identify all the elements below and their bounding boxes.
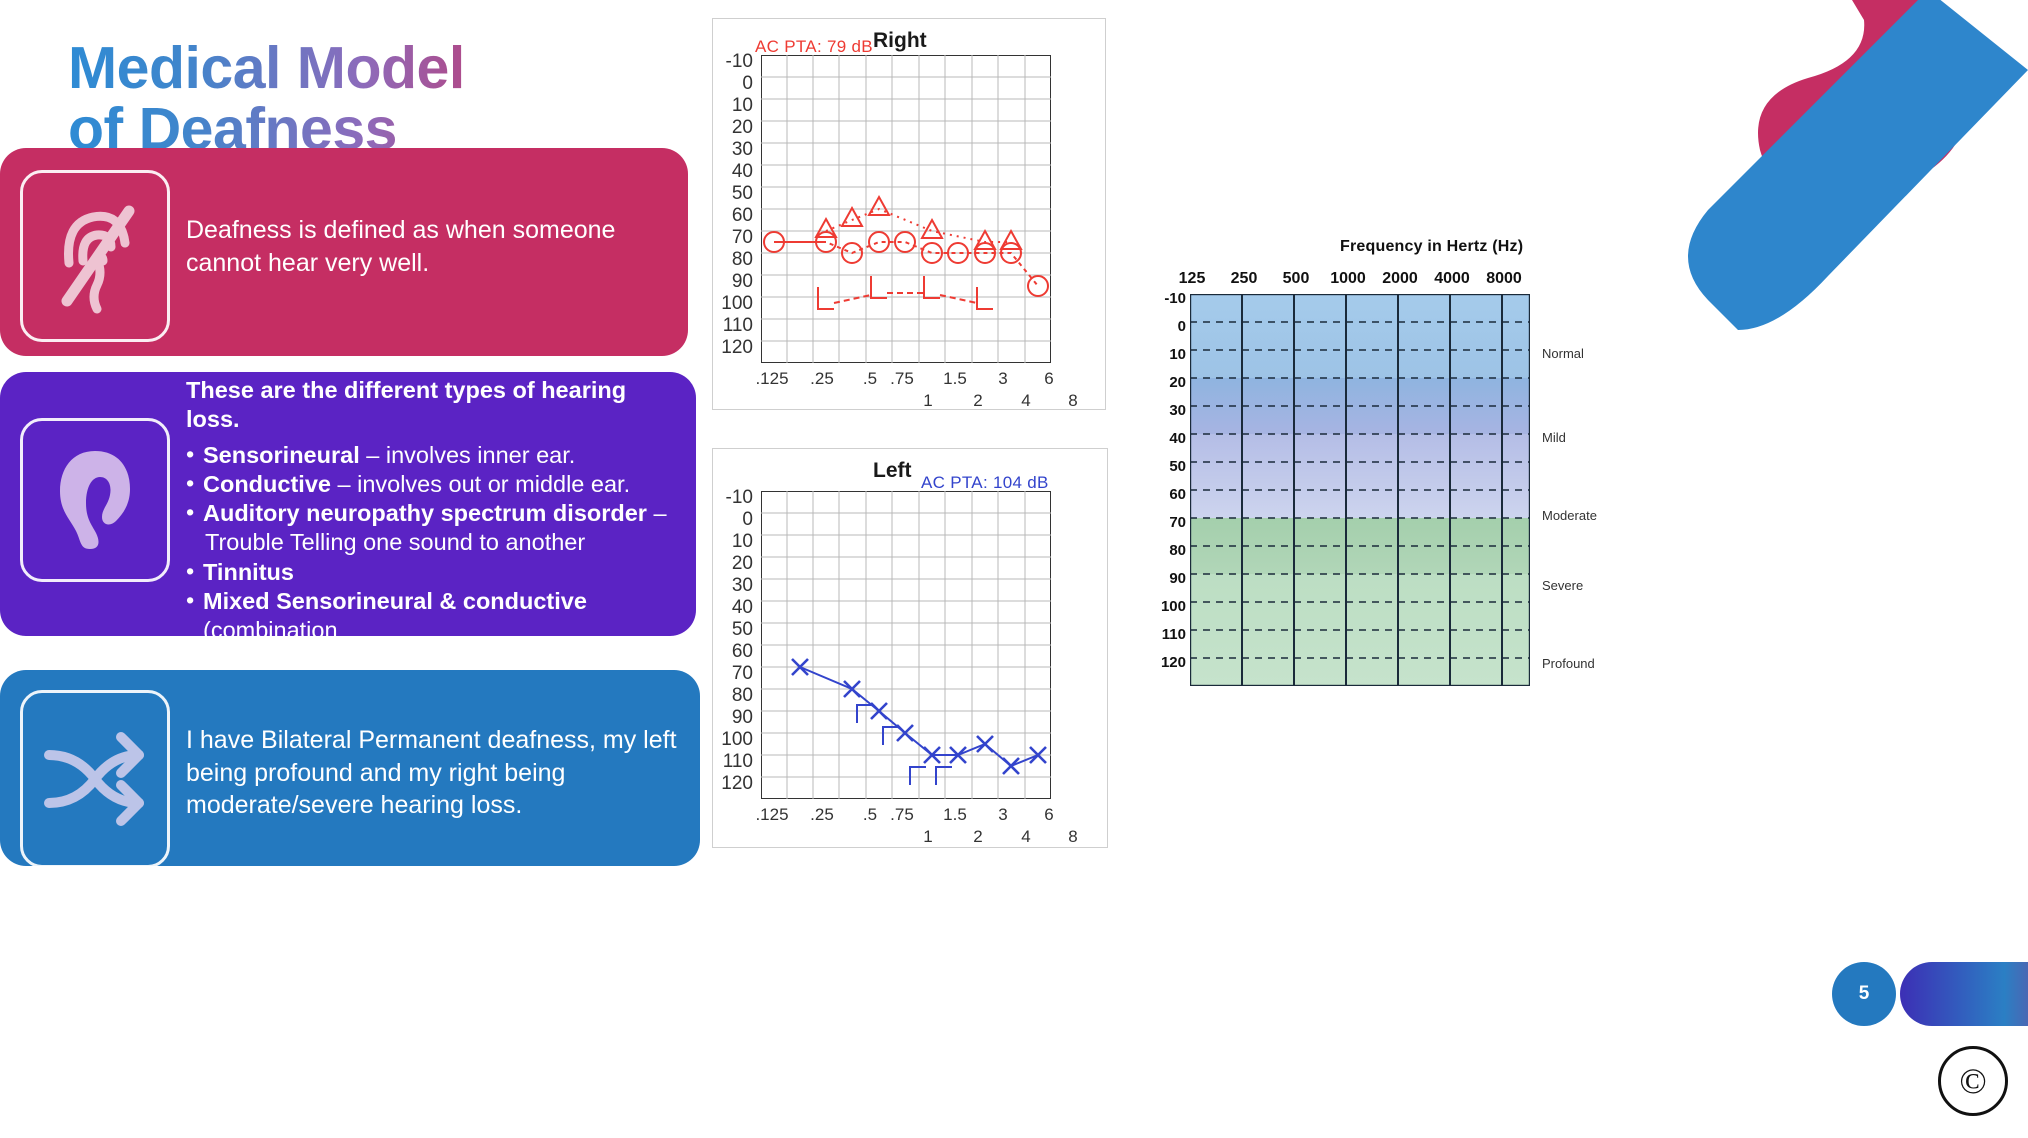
y-tick: 0 bbox=[707, 73, 753, 95]
y-tick: 10 bbox=[707, 531, 753, 553]
shuffle-arrows-icon bbox=[20, 690, 170, 868]
y-tick: 70 bbox=[707, 227, 753, 249]
list-item: Mixed Sensorineural & conductive (combin… bbox=[186, 587, 676, 675]
y-tick: 30 bbox=[707, 139, 753, 161]
y-tick: 10 bbox=[707, 95, 753, 117]
list-item: Sensorineural – involves inner ear. bbox=[186, 441, 676, 470]
severity-category-label: Severe bbox=[1542, 578, 1583, 593]
card-types-of-hearing-loss: These are the different types of hearing… bbox=[0, 372, 696, 636]
y-tick: -10 bbox=[707, 51, 753, 73]
y-tick: 40 bbox=[707, 161, 753, 183]
db-tick: 0 bbox=[1146, 318, 1186, 335]
card-deafness-text: Deafness is defined as when someone cann… bbox=[186, 214, 668, 280]
x-tick: .25 bbox=[797, 805, 847, 825]
y-tick: 50 bbox=[707, 183, 753, 205]
list-item: Tinnitus bbox=[186, 558, 676, 587]
x-tick: 6 bbox=[1024, 805, 1074, 825]
x-tick: .125 bbox=[747, 805, 797, 825]
audiogram-right-panel: Right AC PTA: 79 dB dB HL kHz -10 0 10 2… bbox=[712, 18, 1106, 410]
x-tick: 3 bbox=[978, 369, 1028, 389]
x-tick: 8 bbox=[1048, 391, 1098, 411]
y-tick: 70 bbox=[707, 663, 753, 685]
freq-tick: 2000 bbox=[1370, 270, 1430, 288]
y-tick: 90 bbox=[707, 707, 753, 729]
page-title: Medical Model of Deafness bbox=[68, 38, 708, 160]
freq-tick: 250 bbox=[1214, 270, 1274, 288]
freq-tick: 8000 bbox=[1474, 270, 1534, 288]
db-tick: 70 bbox=[1146, 514, 1186, 531]
db-tick: 90 bbox=[1146, 570, 1186, 587]
hearing-loss-severity-chart: Frequency in Hertz (Hz) Hearing level in… bbox=[1190, 238, 1750, 698]
y-tick: 0 bbox=[707, 509, 753, 531]
deaf-ear-slash-icon bbox=[20, 170, 170, 342]
x-tick: .25 bbox=[797, 369, 847, 389]
y-tick: 100 bbox=[707, 729, 753, 751]
y-tick: 120 bbox=[707, 337, 753, 359]
x-tick: 2 bbox=[953, 391, 1003, 411]
y-tick: 110 bbox=[707, 315, 753, 337]
severity-category-label: Normal bbox=[1542, 346, 1584, 361]
ear-icon bbox=[20, 418, 170, 582]
freq-tick: 4000 bbox=[1422, 270, 1482, 288]
y-tick: 60 bbox=[707, 205, 753, 227]
audiogram-left-panel: Left AC PTA: 104 dB dB HL kHz -10 0 10 2… bbox=[712, 448, 1108, 848]
db-tick: 30 bbox=[1146, 402, 1186, 419]
card-bilateral-deafness: I have Bilateral Permanent deafness, my … bbox=[0, 670, 700, 866]
y-tick: 90 bbox=[707, 271, 753, 293]
y-tick: 60 bbox=[707, 641, 753, 663]
y-tick: 40 bbox=[707, 597, 753, 619]
severity-category-label: Profound bbox=[1542, 656, 1595, 671]
page-number-badge: 5 bbox=[1832, 962, 1896, 1026]
db-tick: 110 bbox=[1146, 626, 1186, 643]
x-tick: 2 bbox=[953, 827, 1003, 847]
audiogram-right-pta: AC PTA: 79 dB bbox=[755, 37, 873, 57]
x-tick: 1 bbox=[903, 391, 953, 411]
audiogram-left-title: Left bbox=[873, 459, 912, 483]
severity-category-label: Mild bbox=[1542, 430, 1566, 445]
footer-pill-bar bbox=[1900, 962, 2028, 1026]
x-tick: 3 bbox=[978, 805, 1028, 825]
y-tick: 120 bbox=[707, 773, 753, 795]
freq-tick: 125 bbox=[1162, 270, 1222, 288]
x-tick: 8 bbox=[1048, 827, 1098, 847]
x-tick: 4 bbox=[1001, 827, 1051, 847]
y-tick: -10 bbox=[707, 487, 753, 509]
db-tick: 80 bbox=[1146, 542, 1186, 559]
x-tick: .75 bbox=[877, 369, 927, 389]
audiogram-right-title: Right bbox=[873, 29, 927, 53]
card-types-heading: These are the different types of hearing… bbox=[186, 376, 676, 435]
db-tick: 100 bbox=[1146, 598, 1186, 615]
hearing-loss-type-list: Sensorineural – involves inner ear. Cond… bbox=[186, 441, 676, 675]
audiogram-left-pta: AC PTA: 104 dB bbox=[921, 473, 1049, 493]
y-tick: 30 bbox=[707, 575, 753, 597]
card-deafness-definition: Deafness is defined as when someone cann… bbox=[0, 148, 688, 356]
list-item: Auditory neuropathy spectrum disorder –T… bbox=[186, 499, 676, 558]
y-tick: 20 bbox=[707, 117, 753, 139]
x-tick: 1.5 bbox=[930, 805, 980, 825]
db-tick: 40 bbox=[1146, 430, 1186, 447]
freq-tick: 1000 bbox=[1318, 270, 1378, 288]
x-tick: 4 bbox=[1001, 391, 1051, 411]
db-tick: 120 bbox=[1146, 654, 1186, 671]
copyright-icon: © bbox=[1938, 1046, 2008, 1116]
db-tick: 20 bbox=[1146, 374, 1186, 391]
severity-title: Frequency in Hertz (Hz) bbox=[1340, 238, 1523, 256]
db-tick: -10 bbox=[1146, 290, 1186, 307]
y-tick: 50 bbox=[707, 619, 753, 641]
x-tick: 1 bbox=[903, 827, 953, 847]
severity-category-label: Moderate bbox=[1542, 508, 1597, 523]
list-item: Conductive – involves out or middle ear. bbox=[186, 470, 676, 499]
y-tick: 100 bbox=[707, 293, 753, 315]
x-tick: .125 bbox=[747, 369, 797, 389]
card-bilateral-text: I have Bilateral Permanent deafness, my … bbox=[186, 724, 680, 822]
y-tick: 80 bbox=[707, 249, 753, 271]
x-tick: .75 bbox=[877, 805, 927, 825]
x-tick: 1.5 bbox=[930, 369, 980, 389]
x-tick: 6 bbox=[1024, 369, 1074, 389]
severity-grid bbox=[1190, 294, 1530, 691]
freq-tick: 500 bbox=[1266, 270, 1326, 288]
db-tick: 60 bbox=[1146, 486, 1186, 503]
y-tick: 80 bbox=[707, 685, 753, 707]
y-tick: 110 bbox=[707, 751, 753, 773]
db-tick: 50 bbox=[1146, 458, 1186, 475]
y-tick: 20 bbox=[707, 553, 753, 575]
db-tick: 10 bbox=[1146, 346, 1186, 363]
